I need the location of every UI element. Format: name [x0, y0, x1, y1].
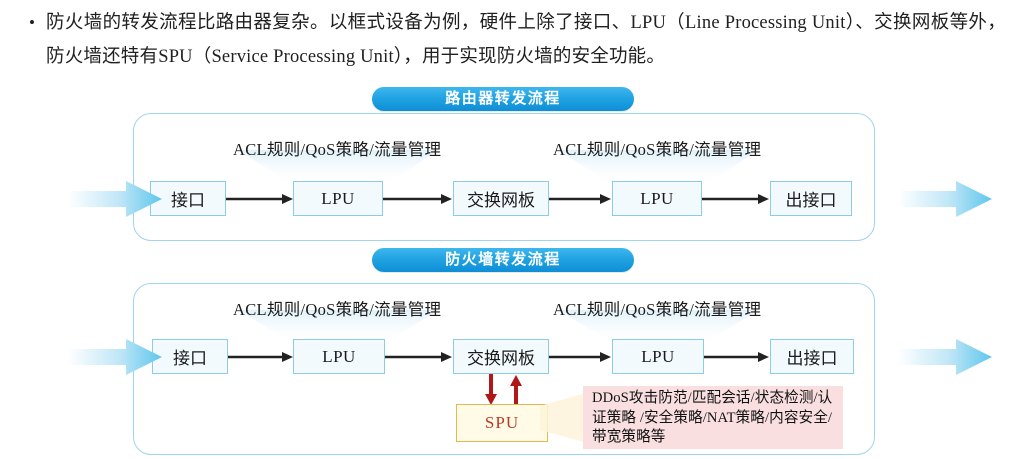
- firewall-security-functions-note: DDoS攻击防范/匹配会话/状态检测/认证策略 /安全策略/NAT策略/内容安全…: [583, 386, 843, 449]
- bullet-text: 防火墙的转发流程比路由器复杂。以框式设备为例，硬件上除了接口、LPU（Line …: [46, 6, 1006, 74]
- firewall-node-out-interface: 出接口: [770, 339, 854, 374]
- connector-firewall-sw-lpu2: [549, 350, 614, 362]
- right-arrow-icon-firewall-ingress: [68, 338, 164, 376]
- bullet-paragraph: • 防火墙的转发流程比路由器复杂。以框式设备为例，硬件上除了接口、LPU（Lin…: [26, 6, 1006, 74]
- connector-firewall-in-lpu1: [228, 350, 296, 362]
- connector-router-lpu1-sw: [383, 192, 455, 204]
- connector-router-sw-lpu2: [549, 192, 614, 204]
- connector-firewall-lpu2-out: [704, 350, 772, 362]
- bullet-marker: •: [26, 6, 46, 40]
- firewall-node-switch-fabric: 交换网板: [453, 339, 549, 374]
- right-arrow-icon-firewall-egress: [898, 338, 994, 376]
- router-flow-container: [133, 113, 875, 241]
- router-node-lpu-egress: LPU: [612, 181, 702, 216]
- firewall-node-lpu-ingress: LPU: [293, 339, 385, 374]
- firewall-node-spu: SPU: [456, 404, 548, 442]
- connector-firewall-lpu1-sw: [385, 350, 455, 362]
- arrow-up-icon: [510, 375, 522, 406]
- connector-router-lpu2-out: [702, 192, 772, 204]
- connector-router-in-lpu1: [226, 192, 296, 204]
- firewall-acl-label-left: ACL规则/QoS策略/流量管理: [233, 296, 441, 320]
- section-banner-firewall: 防火墙转发流程: [372, 248, 634, 272]
- router-node-out-interface: 出接口: [770, 181, 852, 216]
- section-banner-router: 路由器转发流程: [372, 87, 634, 111]
- firewall-node-lpu-egress: LPU: [612, 339, 704, 374]
- router-acl-label-left: ACL规则/QoS策略/流量管理: [233, 136, 441, 160]
- spu-exchange-arrows: [484, 374, 530, 406]
- router-node-lpu-ingress: LPU: [293, 181, 383, 216]
- right-arrow-icon-router-egress: [898, 180, 994, 218]
- arrow-down-icon: [485, 374, 497, 405]
- right-arrow-icon-router-ingress: [68, 180, 164, 218]
- firewall-acl-label-right: ACL规则/QoS策略/流量管理: [553, 296, 761, 320]
- router-node-switch-fabric: 交换网板: [453, 181, 549, 216]
- router-acl-label-right: ACL规则/QoS策略/流量管理: [553, 136, 761, 160]
